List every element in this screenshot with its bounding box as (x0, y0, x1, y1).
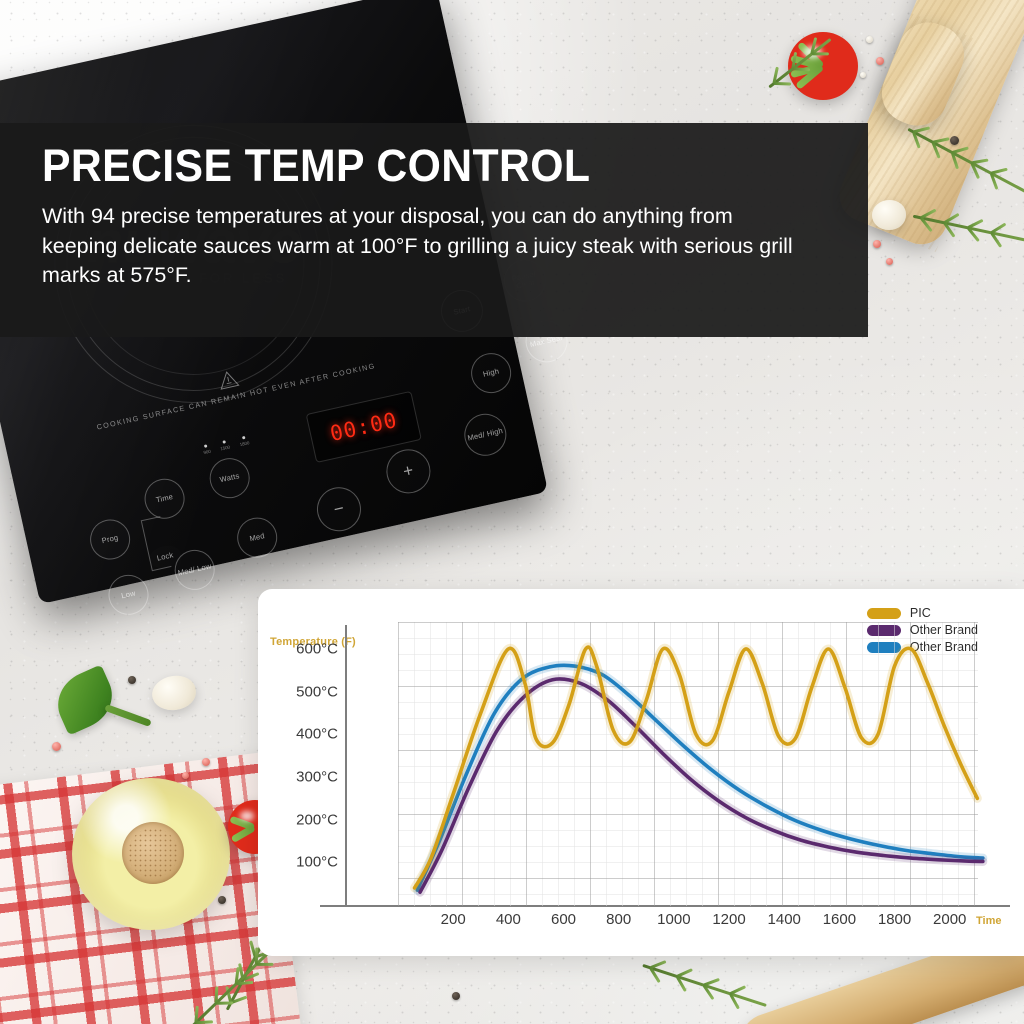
x-tick-1400: 1400 (768, 911, 801, 928)
peppercorn (860, 72, 866, 78)
peppercorn (218, 896, 226, 904)
watt-indicator-2: 1800 (238, 435, 250, 447)
y-tick-500°C: 500°C (258, 683, 338, 700)
garlic-clove-right (872, 200, 906, 230)
watt-indicator-1: 1500 (219, 440, 231, 452)
x-tick-200: 200 (441, 911, 466, 928)
watt-indicator-0: 900 (202, 444, 211, 455)
promo-overlay-panel: PRECISE TEMP CONTROL With 94 precise tem… (0, 123, 868, 337)
peppercorn (52, 742, 61, 751)
peppercorn (202, 758, 210, 766)
peppercorn (876, 57, 884, 65)
chart-series-lines (346, 609, 1024, 909)
temperature-comparison-chart-card: PICOther BrandOther Brand Temperature (F… (258, 589, 1024, 956)
peppercorn (886, 258, 893, 265)
bottle-cork (122, 822, 184, 884)
timer-display-value: 00:00 (328, 408, 400, 446)
x-tick-800: 800 (606, 911, 631, 928)
y-tick-600°C: 600°C (258, 641, 338, 658)
x-tick-1200: 1200 (712, 911, 745, 928)
series-glow-1 (420, 679, 983, 892)
x-tick-1600: 1600 (823, 911, 856, 928)
y-tick-200°C: 200°C (258, 811, 338, 828)
peppercorn (128, 676, 136, 684)
peppercorn (452, 992, 460, 1000)
y-tick-100°C: 100°C (258, 854, 338, 871)
peppercorn (182, 772, 189, 779)
promo-body-text: With 94 precise temperatures at your dis… (42, 202, 802, 291)
x-tick-2000: 2000 (933, 911, 966, 928)
x-tick-600: 600 (551, 911, 576, 928)
y-tick-300°C: 300°C (258, 769, 338, 786)
peppercorn (866, 36, 873, 43)
y-tick-400°C: 400°C (258, 726, 338, 743)
x-tick-1800: 1800 (878, 911, 911, 928)
x-tick-400: 400 (496, 911, 521, 928)
peppercorn (950, 136, 959, 145)
peppercorn (873, 240, 881, 248)
chart-x-axis-title: Time (976, 915, 1001, 927)
x-tick-1000: 1000 (657, 911, 690, 928)
promo-headline: PRECISE TEMP CONTROL (42, 143, 794, 188)
